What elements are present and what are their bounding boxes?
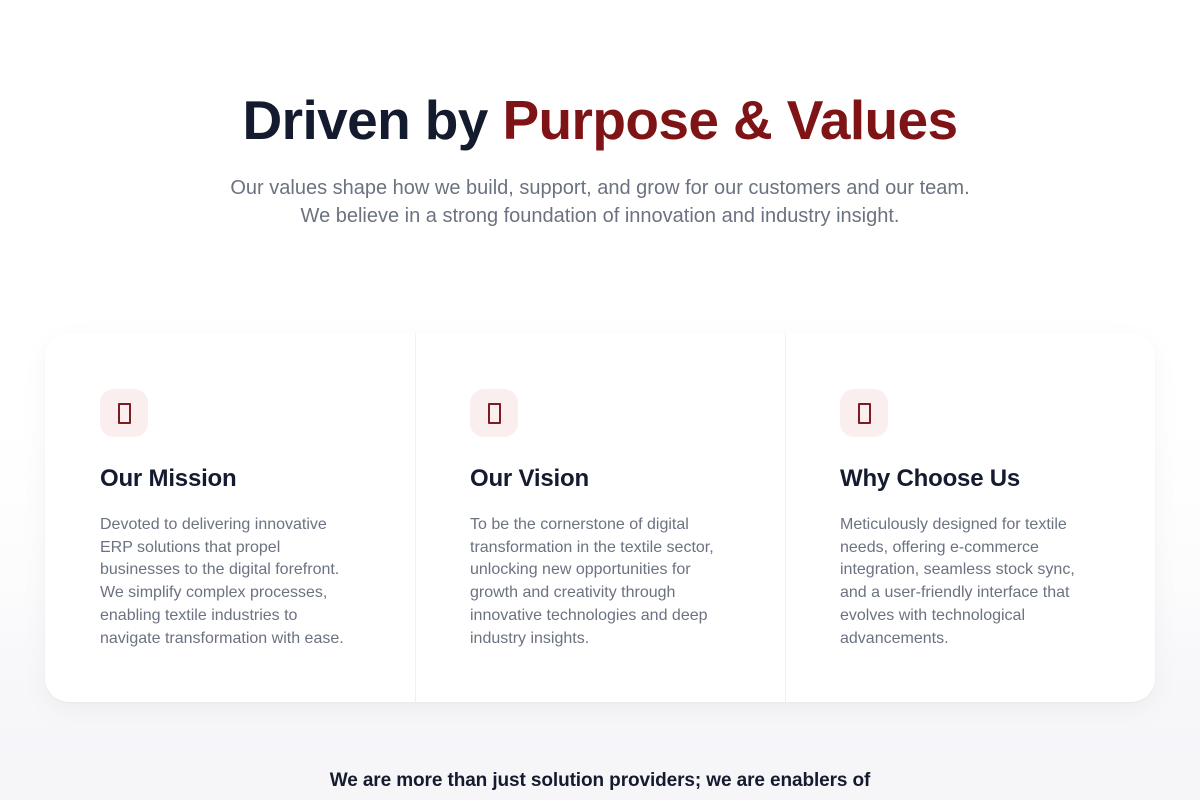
missing-glyph-icon <box>118 403 131 424</box>
page-header: Driven by Purpose & Values Our values sh… <box>0 0 1200 230</box>
values-page: Driven by Purpose & Values Our values sh… <box>0 0 1200 800</box>
vision-icon-badge <box>470 389 518 437</box>
page-subtitle: Our values shape how we build, support, … <box>227 174 973 230</box>
closing-statement: We are more than just solution providers… <box>0 766 1200 796</box>
value-card-title: Our Vision <box>470 465 730 494</box>
why-choose-us-icon-badge <box>840 389 888 437</box>
value-card-body: Meticulously designed for textile needs,… <box>840 514 1080 651</box>
page-title: Driven by Purpose & Values <box>0 90 1200 152</box>
values-cards-container: Our Mission Devoted to delivering innova… <box>45 333 1155 702</box>
value-card-vision: Our Vision To be the cornerstone of digi… <box>415 333 785 702</box>
value-card-body: Devoted to delivering innovative ERP sol… <box>100 514 352 651</box>
missing-glyph-icon <box>858 403 871 424</box>
values-cards: Our Mission Devoted to delivering innova… <box>45 333 1155 702</box>
mission-icon-badge <box>100 389 148 437</box>
value-card-title: Why Choose Us <box>840 465 1100 494</box>
value-card-body: To be the cornerstone of digital transfo… <box>470 514 726 651</box>
missing-glyph-icon <box>488 403 501 424</box>
value-card-title: Our Mission <box>100 465 360 494</box>
value-card-mission: Our Mission Devoted to delivering innova… <box>45 333 415 702</box>
page-title-lead: Driven by <box>243 89 503 151</box>
page-title-accent: Purpose & Values <box>502 89 957 151</box>
value-card-why-choose-us: Why Choose Us Meticulously designed for … <box>785 333 1155 702</box>
